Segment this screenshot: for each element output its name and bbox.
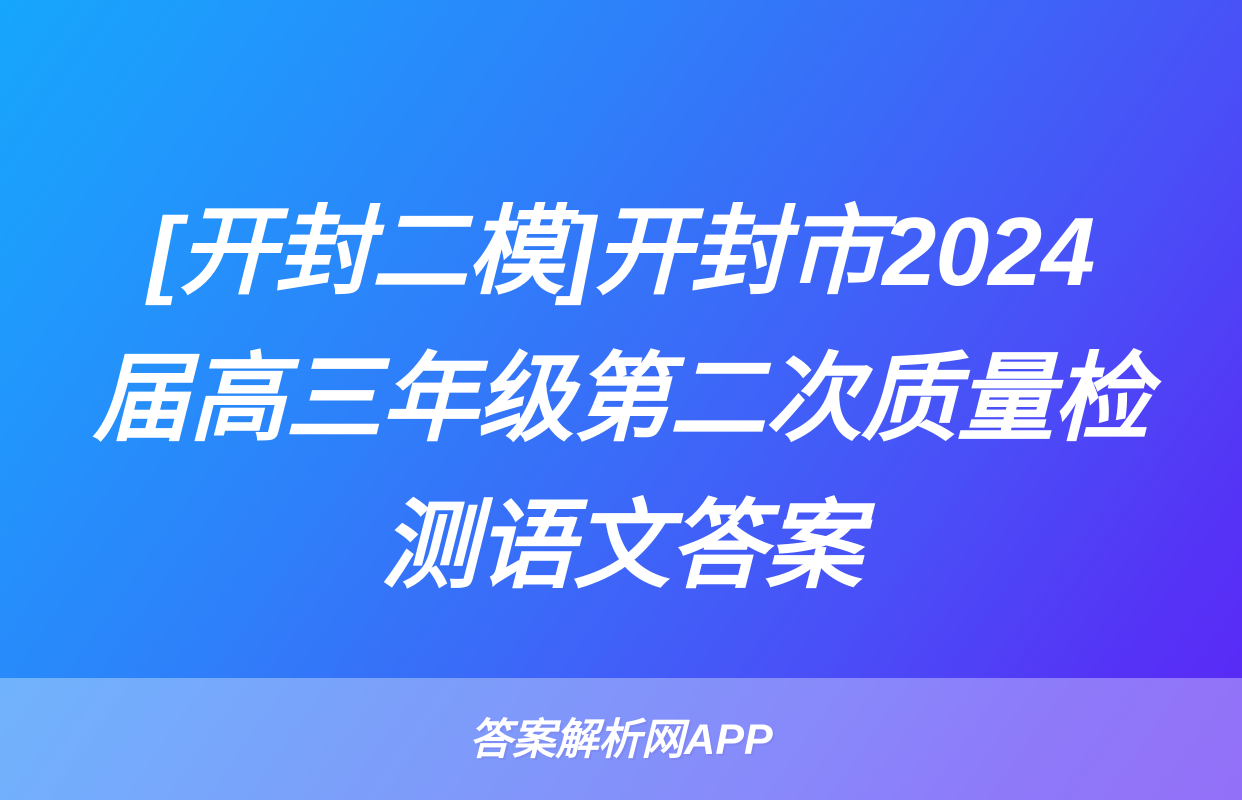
headline-block: [开封二模]开封市2024 届高三年级第二次质量检 测语文答案 (0, 178, 1242, 619)
headline-line-1: [开封二模]开封市2024 (78, 178, 1164, 325)
poster-card: [开封二模]开封市2024 届高三年级第二次质量检 测语文答案 答案解析网APP (0, 0, 1242, 800)
footer-brand-band: 答案解析网APP (0, 678, 1242, 800)
headline-line-2: 届高三年级第二次质量检 (78, 325, 1164, 472)
headline-line-3: 测语文答案 (78, 472, 1164, 619)
footer-brand-label: 答案解析网APP (469, 719, 772, 762)
